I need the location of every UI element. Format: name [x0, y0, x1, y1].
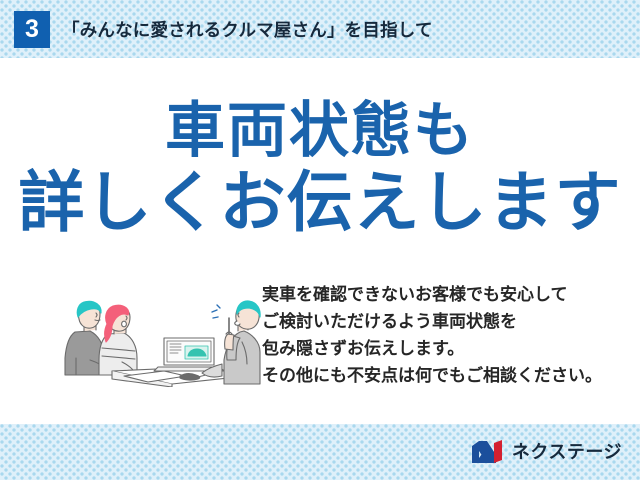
header-title: 「みんなに愛されるクルマ屋さん」を目指して: [62, 17, 433, 42]
consultation-illustration-svg: [52, 272, 262, 387]
body-copy: 実車を確認できないお客様でも安心して ご検討いただけるよう車両状態を 包み隠さず…: [262, 281, 612, 389]
body-copy-line-2: ご検討いただけるよう車両状態を: [262, 308, 612, 335]
header: 3 「みんなに愛されるクルマ屋さん」を目指して: [0, 0, 640, 58]
nextage-n-mark-icon: [471, 439, 505, 465]
emphasis-lines: [212, 305, 220, 318]
headline-line-2: 詳しくお伝えします: [0, 163, 640, 241]
promo-slide: 3 「みんなに愛されるクルマ屋さん」を目指して 車両状態も 詳しくお伝えします: [0, 0, 640, 480]
brand-logo: ネクステージ: [471, 438, 622, 466]
body-copy-line-1: 実車を確認できないお客様でも安心して: [262, 281, 612, 308]
body-copy-line-4: その他にも不安点は何でもご相談ください。: [262, 362, 612, 389]
laptop: [154, 338, 224, 371]
consultation-illustration: [52, 272, 262, 387]
headline: 車両状態も 詳しくお伝えします: [0, 95, 640, 241]
brand-name: ネクステージ: [512, 439, 622, 465]
headline-line-1: 車両状態も: [0, 95, 640, 167]
body-copy-line-3: 包み隠さずお伝えします。: [262, 335, 612, 362]
customer-woman-figure: [99, 305, 137, 375]
step-number-badge: 3: [14, 11, 50, 48]
